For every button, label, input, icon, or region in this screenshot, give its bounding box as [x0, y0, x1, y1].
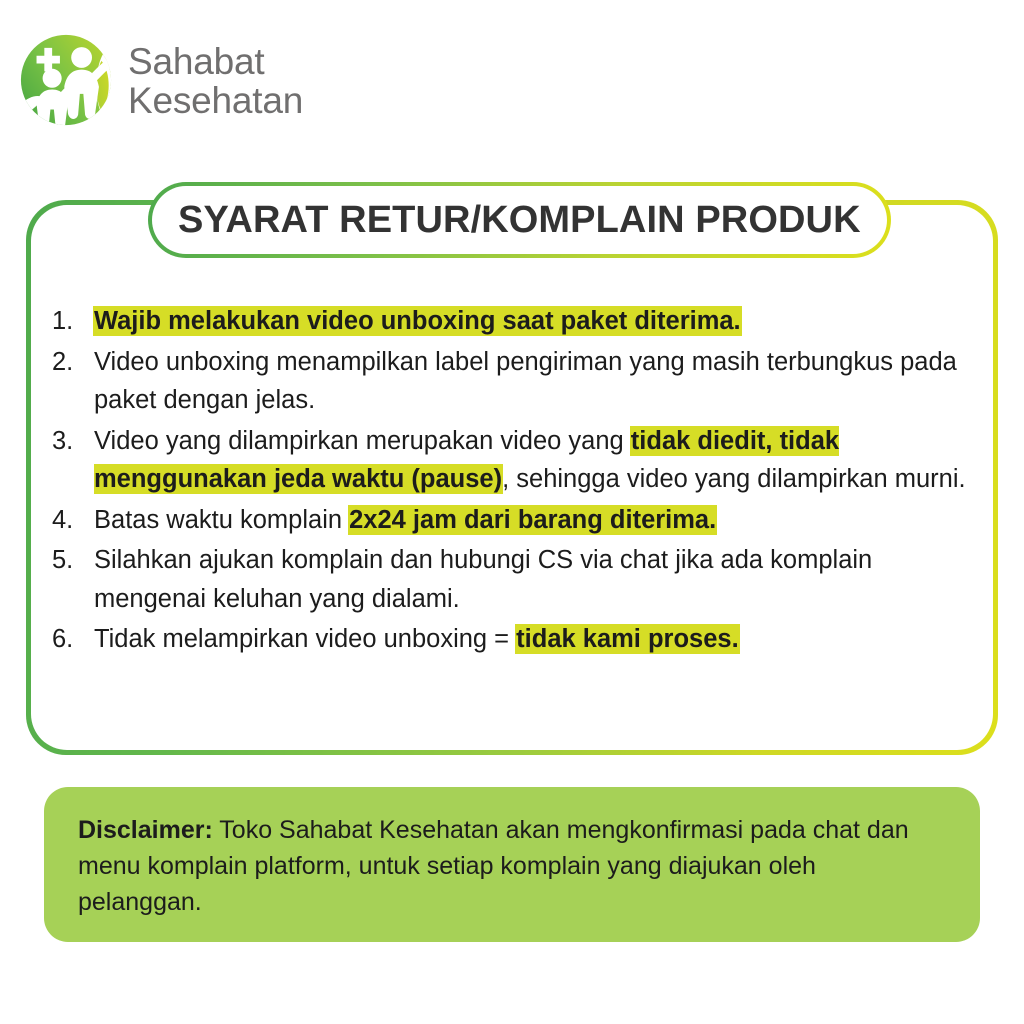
- list-item: 3. Video yang dilampirkan merupakan vide…: [50, 422, 988, 499]
- brand-header: Sahabat Kesehatan: [14, 28, 303, 132]
- list-item: 4. Batas waktu komplain 2x24 jam dari ba…: [50, 501, 988, 540]
- plain-span: Video unboxing menampilkan label pengiri…: [94, 348, 957, 415]
- highlight-span: 2x24 jam dari barang diterima.: [349, 506, 716, 534]
- brand-name-line-2: Kesehatan: [128, 81, 303, 120]
- disclaimer-text: Disclaimer: Toko Sahabat Kesehatan akan …: [78, 812, 946, 920]
- plain-span: Tidak melampirkan video unboxing =: [94, 625, 516, 653]
- card-title-pill: SYARAT RETUR/KOMPLAIN PRODUK: [148, 182, 891, 258]
- sahabat-kesehatan-logo-icon: [14, 28, 118, 132]
- card-title-pill-inner: SYARAT RETUR/KOMPLAIN PRODUK: [152, 186, 887, 254]
- brand-name-line-1: Sahabat: [128, 42, 303, 81]
- list-item-text: Video unboxing menampilkan label pengiri…: [94, 343, 988, 420]
- plain-span: Silahkan ajukan komplain dan hubungi CS …: [94, 546, 872, 613]
- list-item: 6. Tidak melampirkan video unboxing = ti…: [50, 620, 988, 659]
- highlight-span: Wajib melakukan video unboxing saat pake…: [94, 307, 741, 335]
- disclaimer-label: Disclaimer:: [78, 816, 213, 844]
- list-item-text: Tidak melampirkan video unboxing = tidak…: [94, 620, 988, 659]
- list-item-text: Batas waktu komplain 2x24 jam dari baran…: [94, 501, 988, 540]
- brand-wordmark: Sahabat Kesehatan: [128, 42, 303, 120]
- page-title: SYARAT RETUR/KOMPLAIN PRODUK: [178, 201, 861, 239]
- list-item-number: 6.: [50, 620, 94, 659]
- highlight-span: tidak kami proses.: [516, 625, 739, 653]
- list-item-text: Wajib melakukan video unboxing saat pake…: [94, 302, 988, 341]
- list-item-text: Video yang dilampirkan merupakan video y…: [94, 422, 988, 499]
- plain-span: Batas waktu komplain: [94, 506, 349, 534]
- list-item-number: 4.: [50, 501, 94, 540]
- list-item-number: 3.: [50, 422, 94, 461]
- list-item-number: 2.: [50, 343, 94, 382]
- list-item-number: 5.: [50, 541, 94, 580]
- terms-list: 1. Wajib melakukan video unboxing saat p…: [50, 302, 988, 661]
- list-item-text: Silahkan ajukan komplain dan hubungi CS …: [94, 541, 988, 618]
- terms-card: SYARAT RETUR/KOMPLAIN PRODUK 1. Wajib me…: [26, 200, 998, 755]
- list-item: 2. Video unboxing menampilkan label peng…: [50, 343, 988, 420]
- poster-root: Sahabat Kesehatan SYARAT RETUR/KOMPLAIN …: [0, 0, 1024, 1024]
- list-item: 1. Wajib melakukan video unboxing saat p…: [50, 302, 988, 341]
- plain-span: Video yang dilampirkan merupakan video y…: [94, 427, 631, 455]
- plain-span: , sehingga video yang dilampirkan murni.: [502, 465, 966, 493]
- list-item-number: 1.: [50, 302, 94, 341]
- disclaimer-panel: Disclaimer: Toko Sahabat Kesehatan akan …: [44, 787, 980, 942]
- list-item: 5. Silahkan ajukan komplain dan hubungi …: [50, 541, 988, 618]
